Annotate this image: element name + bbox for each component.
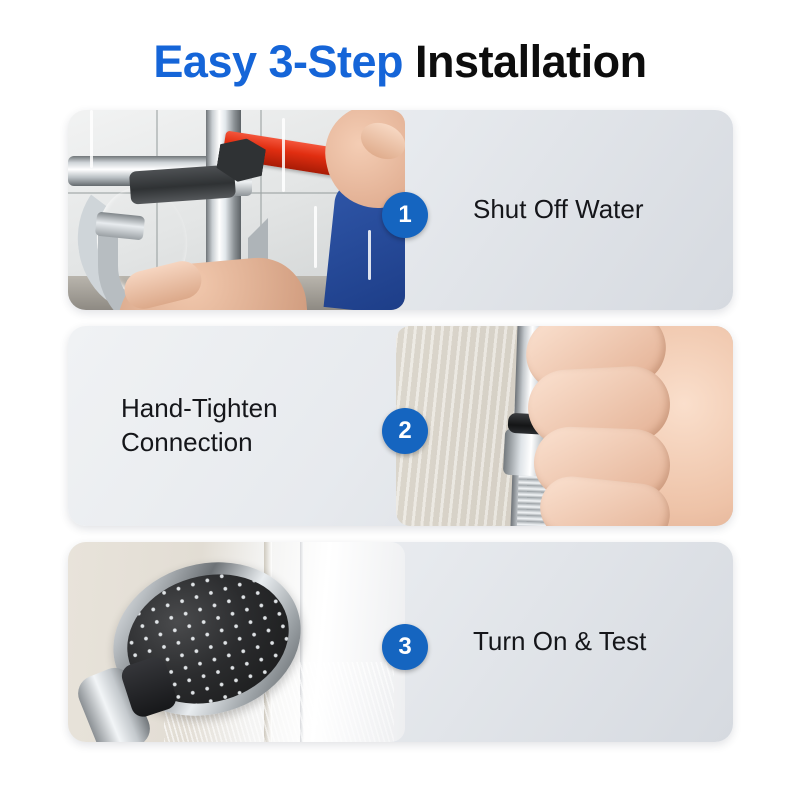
step-card-3[interactable]: 3 Turn On & Test: [68, 542, 733, 742]
water-drip: [368, 230, 371, 280]
step-number-3: 3: [398, 633, 411, 661]
page-title: Easy 3-Step Installation: [0, 34, 800, 90]
showerhead-spraying-water-photo: [68, 542, 405, 742]
step-label-2-line1: Hand-Tighten: [121, 393, 278, 423]
pipe-nut-lower: [95, 212, 145, 241]
step-label-2-line2: Connection: [121, 427, 253, 457]
water-drip: [314, 206, 317, 268]
step-badge-1: 1: [382, 192, 428, 238]
step-label-1: Shut Off Water: [473, 110, 713, 310]
step-card-1[interactable]: 1 Shut Off Water: [68, 110, 733, 310]
step-number-2: 2: [398, 417, 411, 445]
page-title-rest: Installation: [403, 36, 647, 87]
step-label-3: Turn On & Test: [473, 542, 713, 742]
steps-list: 1 Shut Off Water Hand-Tighten Connection: [68, 110, 733, 758]
hand-tightening-hose-photo: [396, 326, 733, 526]
step-card-2[interactable]: Hand-Tighten Connection 2: [68, 326, 733, 526]
fingers-group: [546, 326, 706, 526]
water-drip: [282, 118, 285, 192]
water-drip: [90, 110, 93, 168]
step-badge-2: 2: [382, 408, 428, 454]
page-title-accent: Easy 3-Step: [153, 36, 403, 87]
plumbing-pipes-red-wrench-photo: [68, 110, 405, 310]
step-number-1: 1: [398, 201, 411, 229]
step-badge-3: 3: [382, 624, 428, 670]
